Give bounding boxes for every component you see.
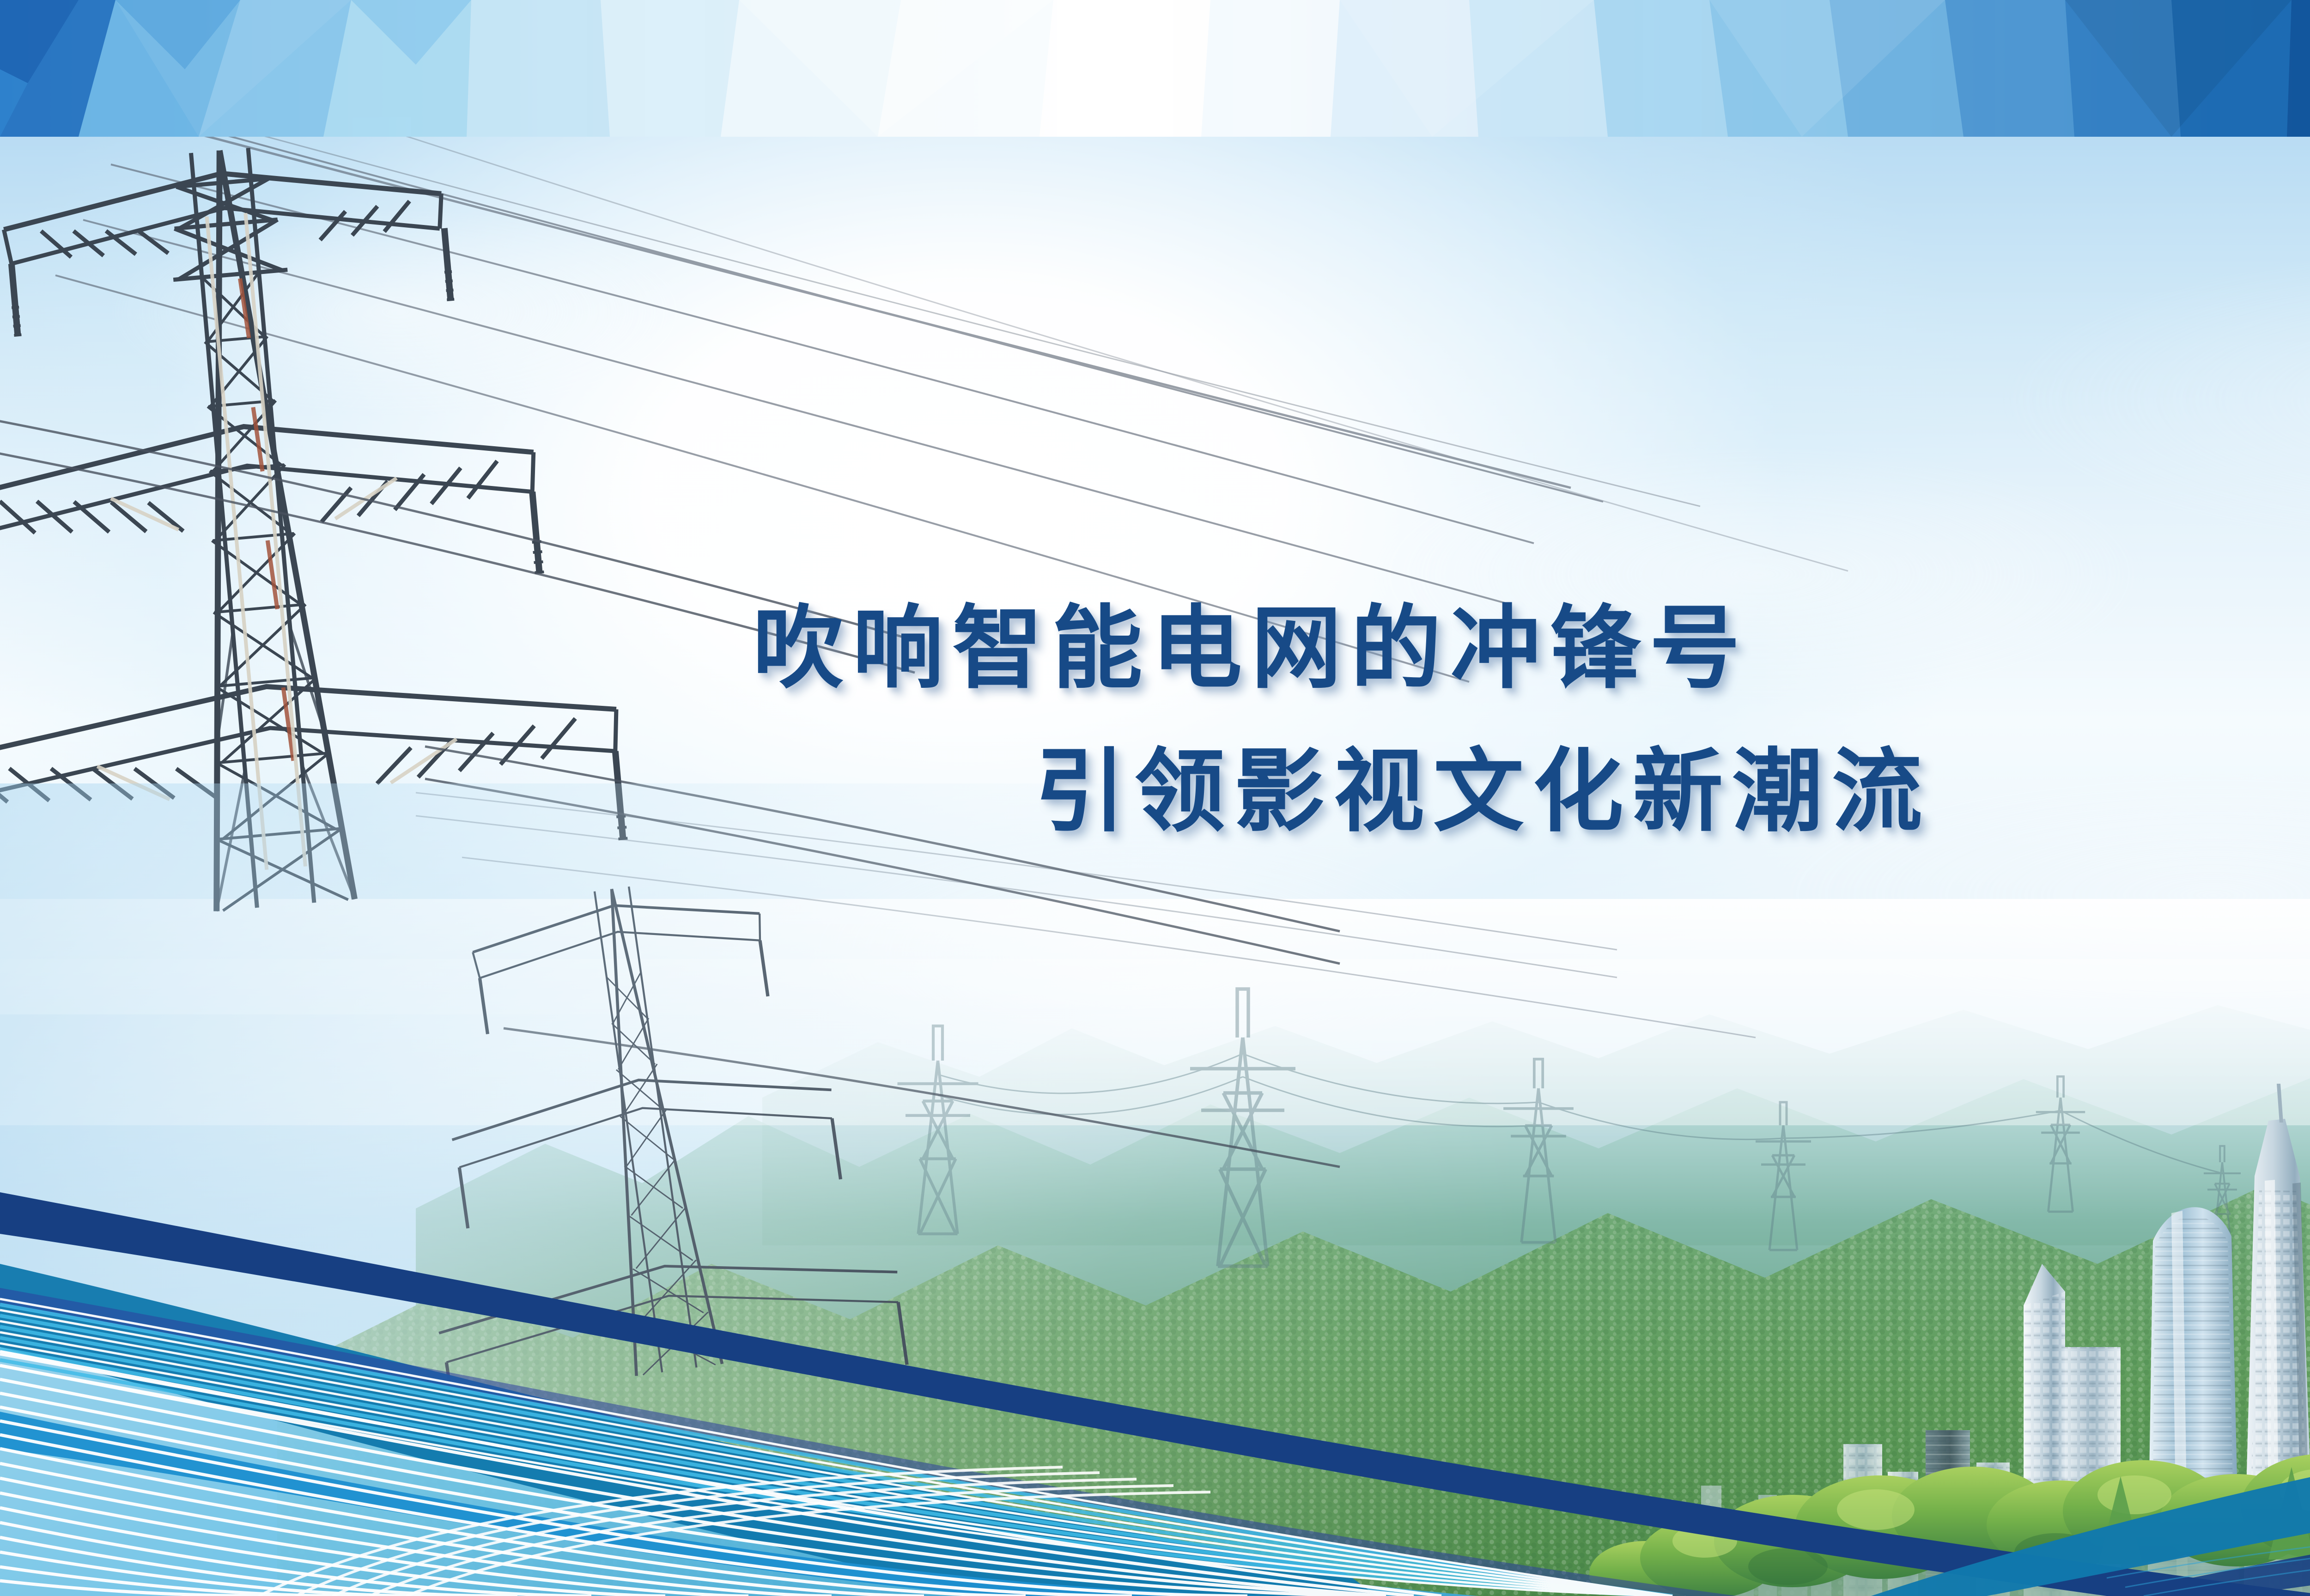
scene-photo xyxy=(0,137,2310,1596)
title-line-2: 引领影视文化新潮流 xyxy=(1035,718,1931,849)
top-geometric-band xyxy=(0,0,2310,137)
title-line-1: 吹响智能电网的冲锋号 xyxy=(753,575,1749,706)
banner-poster: 吹响智能电网的冲锋号 引领影视文化新潮流 xyxy=(0,0,2310,1596)
bottom-right-ribbon-waves xyxy=(0,137,2310,1596)
right-teal-ribbon xyxy=(1871,1384,2310,1596)
low-poly-pattern-icon xyxy=(0,0,2310,137)
